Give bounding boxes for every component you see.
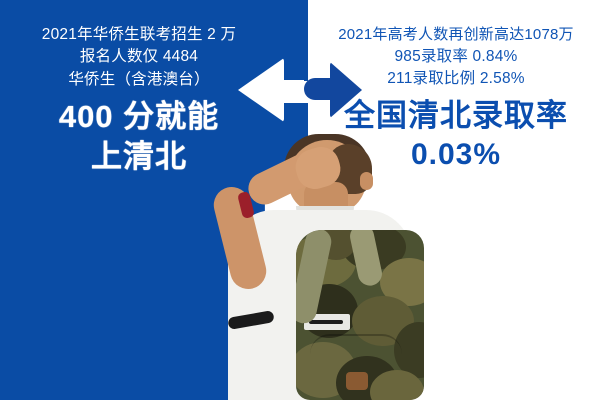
arrow-left-head (238, 58, 284, 122)
left-line-1: 2021年华侨生联考招生 2 万 (10, 26, 268, 44)
student-photo (200, 138, 440, 400)
arrow-right-head (330, 62, 362, 118)
arrow-right-icon (304, 62, 362, 118)
left-line-3: 华侨生（含港澳台） (10, 71, 268, 89)
camo-backpack (296, 230, 424, 400)
left-headline-1: 400 分就能 (10, 99, 268, 136)
right-line-1: 2021年高考人数再创新高达1078万 (320, 26, 592, 44)
arrow-left-icon (238, 58, 304, 122)
poster-canvas: 2021年华侨生联考招生 2 万 报名人数仅 4484 华侨生（含港澳台） 40… (0, 0, 600, 400)
arrow-left-tail (280, 80, 304, 101)
backpack-leather-patch (346, 372, 368, 390)
left-line-2: 报名人数仅 4484 (10, 48, 268, 66)
ear (360, 172, 373, 190)
